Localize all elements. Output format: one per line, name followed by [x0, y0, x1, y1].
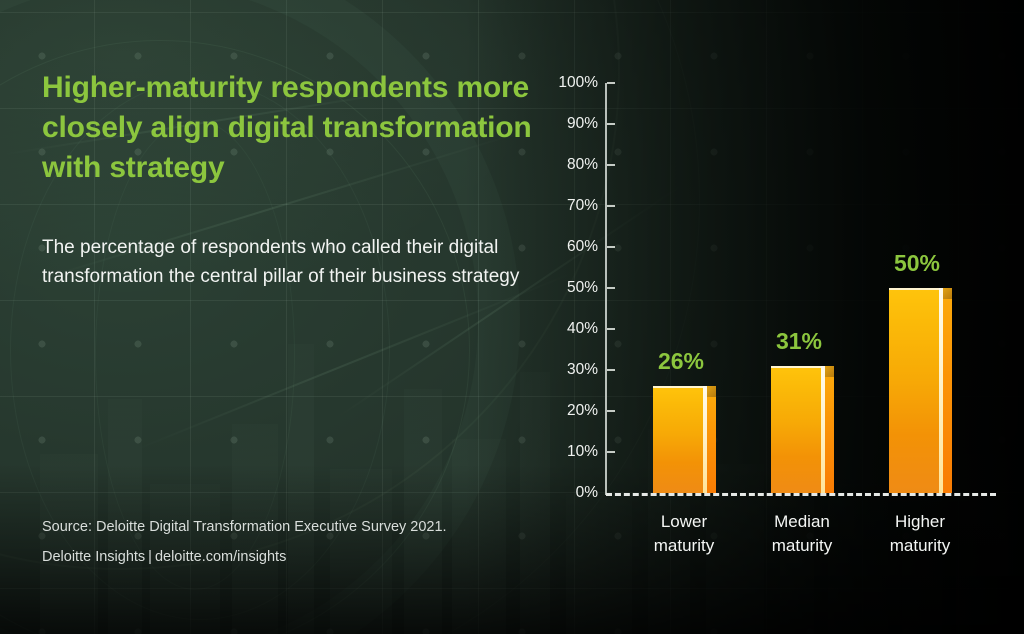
- y-axis-tick-mark: [607, 82, 615, 84]
- page-title: Higher-maturity respondents more closely…: [42, 68, 532, 188]
- x-axis-category-label: Highermaturity: [855, 510, 985, 558]
- bar-side-face: [707, 397, 716, 493]
- y-axis-tick-mark: [607, 451, 615, 453]
- text-column: Higher-maturity respondents more closely…: [42, 68, 532, 291]
- bar-edge-highlight: [939, 288, 943, 493]
- page-subtitle: The percentage of respondents who called…: [42, 188, 532, 291]
- y-axis-tick-mark: [607, 246, 615, 248]
- source-brand-line: Deloitte Insights|deloitte.com/insights: [42, 542, 512, 572]
- bar-3[interactable]: 50%: [889, 288, 952, 493]
- y-axis-tick-label: 60%: [567, 238, 598, 256]
- y-axis-labels: 0%10%20%30%40%50%60%70%80%90%100%: [540, 78, 598, 498]
- y-axis-tick-label: 0%: [576, 484, 598, 502]
- source-block: Source: Deloitte Digital Transformation …: [42, 512, 512, 572]
- y-axis-tick-label: 50%: [567, 279, 598, 297]
- source-citation: Source: Deloitte Digital Transformation …: [42, 512, 512, 542]
- bar-edge-highlight: [703, 386, 707, 493]
- y-axis-tick-mark: [607, 328, 615, 330]
- x-axis-category-line: Median: [737, 510, 867, 534]
- zero-baseline: [606, 493, 996, 496]
- brand-url[interactable]: deloitte.com/insights: [155, 549, 286, 565]
- y-axis-tick-label: 20%: [567, 402, 598, 420]
- y-axis-tick-label: 90%: [567, 115, 598, 133]
- y-axis-tick-label: 70%: [567, 197, 598, 215]
- x-axis-category-line: maturity: [855, 534, 985, 558]
- brand-separator: |: [145, 549, 155, 565]
- bar-top-face: [825, 366, 834, 377]
- bar-front-face: [771, 366, 821, 493]
- plot-area: 26%31%50%: [606, 78, 1001, 495]
- bar-1[interactable]: 26%: [653, 386, 716, 493]
- y-axis-tick-mark: [607, 287, 615, 289]
- bar-edge-highlight: [821, 366, 825, 493]
- x-axis-category-line: maturity: [737, 534, 867, 558]
- y-axis-tick-mark: [607, 205, 615, 207]
- infographic-canvas: Higher-maturity respondents more closely…: [0, 0, 1024, 634]
- bar-side-face: [943, 299, 952, 493]
- bar-front-face: [653, 386, 703, 493]
- y-axis-tick-label: 10%: [567, 443, 598, 461]
- y-axis-tick-label: 40%: [567, 320, 598, 338]
- y-axis-tick-mark: [607, 123, 615, 125]
- y-axis-tick-mark: [607, 369, 615, 371]
- x-axis-category-line: maturity: [619, 534, 749, 558]
- bar-top-highlight: [653, 386, 703, 388]
- bar-top-highlight: [889, 288, 939, 290]
- x-axis-category-line: Higher: [855, 510, 985, 534]
- x-axis-category-label: Medianmaturity: [737, 510, 867, 558]
- y-axis-tick-label: 80%: [567, 156, 598, 174]
- x-axis-category-label: Lowermaturity: [619, 510, 749, 558]
- y-axis-tick-mark: [607, 410, 615, 412]
- bar-chart: 0%10%20%30%40%50%60%70%80%90%100% 26%31%…: [540, 78, 1010, 598]
- y-axis-tick-label: 100%: [558, 74, 598, 92]
- y-axis-tick-label: 30%: [567, 361, 598, 379]
- bar-value-label: 50%: [882, 250, 952, 288]
- bar-top-face: [943, 288, 952, 299]
- bar-value-label: 26%: [646, 348, 716, 386]
- bar-front-face: [889, 288, 939, 493]
- bar-top-highlight: [771, 366, 821, 368]
- x-axis-category-line: Lower: [619, 510, 749, 534]
- bar-value-label: 31%: [764, 328, 834, 366]
- brand-name: Deloitte Insights: [42, 549, 145, 565]
- bar-top-face: [707, 386, 716, 397]
- bar-side-face: [825, 377, 834, 493]
- y-axis-tick-mark: [607, 164, 615, 166]
- bar-2[interactable]: 31%: [771, 366, 834, 493]
